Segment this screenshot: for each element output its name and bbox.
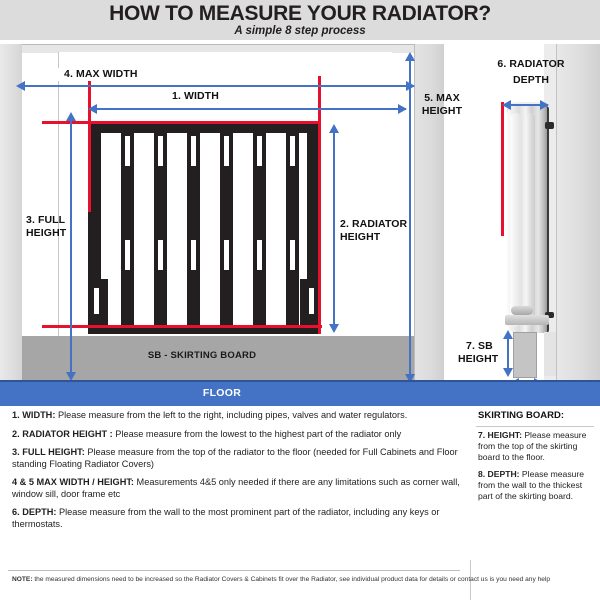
note-item: 2. RADIATOR HEIGHT : Please measure from… [0,429,470,441]
radiator-slot [125,240,130,270]
note-text: Please measure from the lowest to the hi… [113,429,402,439]
measurement-diagram: SB - SKIRTING BOARD [0,44,600,408]
side-view-wall-lower [544,332,556,376]
skirting-note-item: 8. DEPTH: Please measure from the wall t… [470,469,600,502]
skirting-board-heading: SKIRTING BOARD: [470,410,600,424]
skirting-panel-divider [476,426,594,427]
radiator-depth-label-line2: DEPTH [466,74,596,87]
full-height-label-line2: HEIGHT [26,227,66,240]
max-width-arrow-left-icon [16,81,25,91]
skirting-note-number: 8. DEPTH: [478,469,520,479]
floor-band: FLOOR [0,380,600,406]
radiator-depth-arrow-left-icon [502,100,511,110]
max-height-arrow-up-icon [405,52,415,61]
side-radiator-knob [511,306,533,315]
note-item: 1. WIDTH: Please measure from the left t… [0,410,470,422]
radiator-slot [158,240,163,270]
infographic-page: HOW TO MEASURE YOUR RADIATOR? A simple 8… [0,0,600,600]
note-number: 2. RADIATOR HEIGHT : [12,429,113,439]
radiator-slot [191,136,196,166]
radiator-slot [257,240,262,270]
radiator-height-arrow-up-icon [329,124,339,133]
max-width-line [24,85,414,87]
note-number: 3. FULL HEIGHT: [12,447,85,457]
note-number: 4 & 5 MAX WIDTH / HEIGHT: [12,477,134,487]
floor-label: FLOOR [0,387,444,399]
max-height-label-line2: HEIGHT [414,105,470,118]
sb-height-label-line1: 7. SB [466,340,493,353]
radiator-slot [257,136,262,166]
red-depth-tick [501,102,504,236]
skirting-board-panel: SKIRTING BOARD: 7. HEIGHT: Please measur… [470,410,600,560]
full-height-arrow-up-icon [66,112,76,121]
max-height-line [409,60,411,380]
red-bottom-line-left [42,325,152,328]
full-height-label-line1: 3. FULL [26,214,65,227]
instructions-panel: 1. WIDTH: Please measure from the left t… [0,410,471,600]
skirting-note-item: 7. HEIGHT: Please measure from the top o… [470,430,600,463]
width-label: 1. WIDTH [166,90,225,103]
skirting-note-number: 7. HEIGHT: [478,430,522,440]
radiator-end-slot-left [94,288,99,314]
max-height-label-line1: 5. MAX [414,92,470,105]
radiator-front-view [88,122,320,334]
width-arrow-right-icon [398,104,407,114]
radiator-slot [224,240,229,270]
page-subtitle: A simple 8 step process [0,25,600,37]
radiator-height-label-line2: HEIGHT [340,231,380,244]
radiator-height-line [333,132,335,330]
footnote-divider [8,570,460,571]
radiator-end-slot-right [309,288,314,314]
note-text: Please measure from the left to the righ… [55,410,407,420]
max-width-label: 4. MAX WIDTH [58,68,144,81]
note-item: 4 & 5 MAX WIDTH / HEIGHT: Measurements 4… [0,477,470,500]
sb-height-arrow-up-icon [503,330,513,339]
radiator-slot [290,136,295,166]
far-wall [556,44,600,404]
side-radiator-foot [505,315,549,325]
width-arrow-left-icon [88,104,97,114]
footnote-text: the measured dimensions need to be incre… [33,576,551,583]
note-number: 6. DEPTH: [12,507,56,517]
red-width-right-tick [318,76,321,334]
radiator-height-label-line1: 2. RADIATOR [340,218,407,231]
skirting-board-label: SB - SKIRTING BOARD [22,350,382,361]
side-radiator-body [507,106,549,333]
red-bottom-line-right [150,325,322,328]
sb-height-label-line2: HEIGHT [458,353,498,366]
skirting-board-band: SB - SKIRTING BOARD [22,336,414,380]
side-radiator-valve-top [545,122,554,129]
radiator-height-arrow-down-icon [329,324,339,333]
radiator-slot [290,240,295,270]
full-height-line [70,120,72,378]
sb-height-arrow-down-icon [503,368,513,377]
footnote: NOTE: the measured dimensions need to be… [12,576,592,585]
footnote-label: NOTE: [12,576,33,583]
page-title: HOW TO MEASURE YOUR RADIATOR? [0,2,600,26]
radiator-slot [191,240,196,270]
radiator-slot [125,136,130,166]
radiator-slot [158,136,163,166]
note-item: 3. FULL HEIGHT: Please measure from the … [0,447,470,470]
left-wall [0,44,22,404]
note-number: 1. WIDTH: [12,410,55,420]
radiator-depth-arrow-right-icon [540,100,549,110]
width-line [96,108,406,110]
radiator-depth-label-line1: 6. RADIATOR [466,58,596,71]
side-skirting-block [513,332,537,378]
note-text: Please measure from the wall to the most… [12,507,439,529]
red-width-left-tick [88,76,91,212]
note-item: 6. DEPTH: Please measure from the wall t… [0,507,470,530]
red-top-line [42,121,320,124]
radiator-slot [224,136,229,166]
